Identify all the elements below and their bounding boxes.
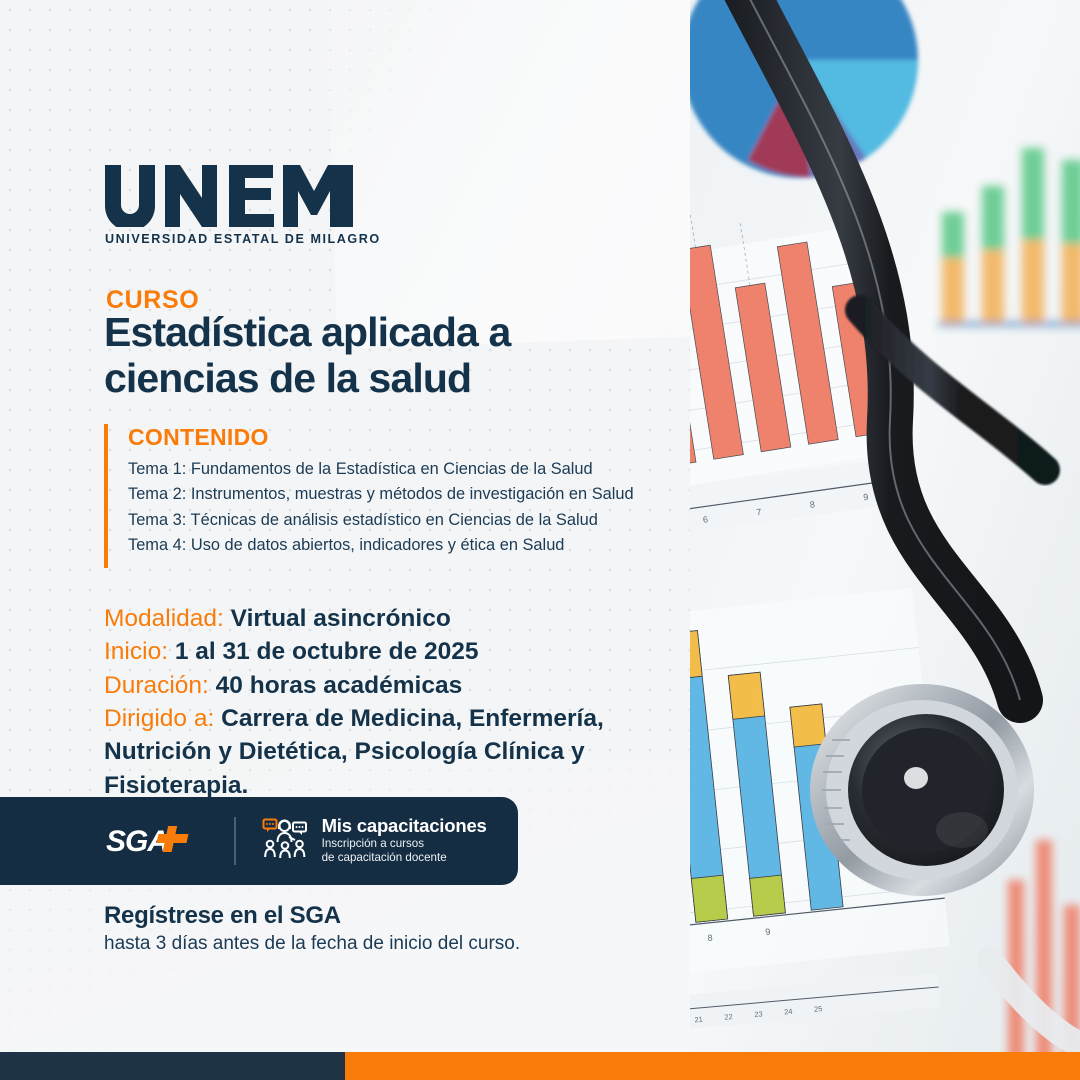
detail-inicio: Inicio: 1 al 31 de octubre de 2025: [104, 635, 644, 668]
detail-inicio-label: Inicio:: [104, 638, 168, 665]
contenido-item: Tema 2: Instrumentos, muestras y métodos…: [128, 482, 634, 507]
detail-modalidad-value: Virtual asincrónico: [231, 605, 451, 632]
detail-modalidad: Modalidad: Virtual asincrónico: [104, 602, 644, 635]
contenido-section: CONTENIDO Tema 1: Fundamentos de la Esta…: [104, 424, 634, 559]
contenido-heading: CONTENIDO: [128, 424, 634, 451]
course-details: Modalidad: Virtual asincrónico Inicio: 1…: [104, 602, 644, 802]
unemi-wordmark-icon: [105, 165, 353, 227]
register-subtext: hasta 3 días antes de la fecha de inicio…: [104, 933, 520, 955]
contenido-item: Tema 4: Uso de datos abiertos, indicador…: [128, 533, 634, 558]
detail-dirigido: Dirigido a: Carrera de Medicina, Enferme…: [104, 702, 644, 802]
sga-banner-title: Mis capacitaciones: [322, 816, 487, 837]
course-title-line1: Estadística aplicada a: [104, 310, 510, 356]
page-title: Estadística aplicada a ciencias de la sa…: [104, 310, 510, 402]
training-people-icon: [262, 816, 308, 867]
unemi-logo-subtitle: UNIVERSIDAD ESTATAL DE MILAGRO: [105, 232, 381, 246]
contenido-item: Tema 3: Técnicas de análisis estadístico…: [128, 508, 634, 533]
sga-banner-subtitle-line1: Inscripción a cursos: [322, 837, 487, 852]
register-callout: Regístrese en el SGA hasta 3 días antes …: [104, 902, 520, 955]
banner-divider: [234, 817, 236, 865]
sga-banner-subtitle-line2: de capacitación docente: [322, 851, 487, 866]
contenido-item: Tema 1: Fundamentos de la Estadística en…: [128, 457, 634, 482]
sga-banner-text: Mis capacitaciones Inscripción a cursos …: [322, 816, 487, 866]
hero-photo-stethoscope-charts: 56 78 9: [690, 0, 1080, 1080]
footer-bar-orange: [345, 1052, 1080, 1080]
detail-inicio-value: 1 al 31 de octubre de 2025: [175, 638, 479, 665]
sga-logo-icon: SGA: [106, 822, 206, 860]
detail-duracion: Duración: 40 horas académicas: [104, 669, 644, 702]
poster-canvas: 56 78 9: [0, 0, 1080, 1080]
detail-duracion-value: 40 horas académicas: [216, 672, 463, 699]
contenido-accent-bar: [104, 424, 108, 568]
course-title-line2: ciencias de la salud: [104, 356, 510, 402]
detail-modalidad-label: Modalidad:: [104, 605, 224, 632]
unemi-logo: UNIVERSIDAD ESTATAL DE MILAGRO: [105, 165, 381, 246]
footer-bar-navy: [0, 1052, 345, 1080]
detail-duracion-label: Duración:: [104, 672, 209, 699]
sga-plus-logo: SGA: [106, 822, 206, 860]
detail-dirigido-label: Dirigido a:: [104, 705, 214, 732]
sga-banner[interactable]: SGA: [0, 797, 518, 885]
register-headline: Regístrese en el SGA: [104, 902, 520, 930]
